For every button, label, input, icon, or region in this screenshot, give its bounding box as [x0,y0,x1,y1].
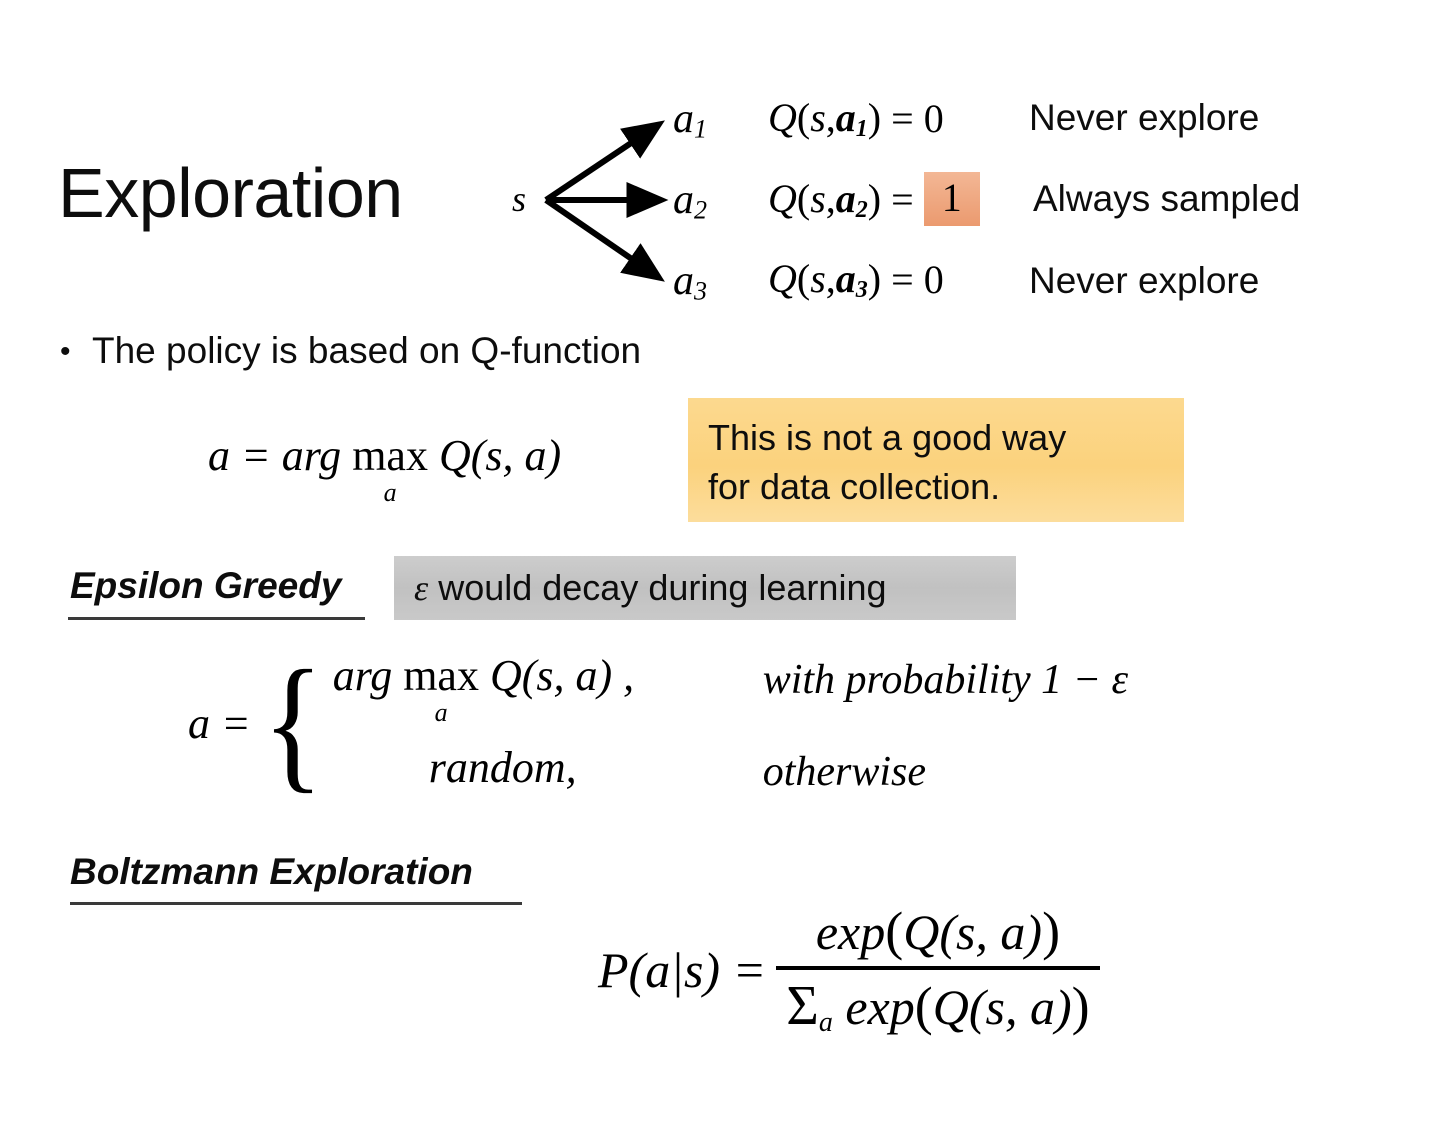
page-title: Exploration [58,158,403,228]
boltzmann-sigma: Σa [786,975,833,1037]
argmax-lhs: a = arg [208,431,341,480]
q-value-row-3: Q(s,a3) = 0 [768,255,944,304]
piecewise-max-label: max [403,654,479,698]
action-label-a2: a2 [673,176,707,226]
callout-gray-text: ε would decay during learning [414,567,886,609]
q-equals-3: = [891,256,914,303]
q-value-3: 0 [924,256,944,303]
argmax-rhs: Q(s, a) [439,431,561,480]
formula-argmax: a = arg max a Q(s, a) [208,430,561,506]
formula-epsilon-greedy: a = { arg maxa Q(s, a) , with probabilit… [188,650,1128,796]
piecewise-max-subscript: a [435,700,448,726]
formula-boltzmann: P(a|s) = exp(Q(s, a)) Σa exp(Q(s, a)) [598,900,1100,1039]
piecewise-lhs: a = [188,698,251,749]
piecewise-cases: arg maxa Q(s, a) , with probability 1 − … [333,650,1128,796]
boltzmann-lhs: P(a|s) = [598,941,766,999]
boltzmann-numerator: exp(Q(s, a)) [806,900,1070,966]
action-tree-arrows [500,95,700,310]
callout-yellow-box: This is not a good way for data collecti… [688,398,1184,522]
piecewise-case-1-expression: arg maxa Q(s, a) , [333,650,763,726]
q-equals-2: = [891,176,914,223]
state-label: s [512,178,526,220]
q-expression-1: Q(s,a1) [768,94,881,143]
heading-boltzmann-exploration: Boltzmann Exploration [70,853,473,890]
q-expression-2: Q(s,a2) [768,175,881,224]
boltzmann-sigma-subscript: a [819,1007,833,1038]
q-note-3: Never explore [1029,260,1259,302]
boltzmann-numerator-fn: exp [816,904,885,960]
boltzmann-denominator-fn: exp [845,979,914,1035]
piecewise-case-1-condition: with probability 1 − ε [763,650,1128,704]
argmax-max-subscript: a [384,480,397,506]
callout-yellow-line1: This is not a good way [708,414,1164,463]
action-label-a1: a1 [673,95,707,145]
boltzmann-fraction: exp(Q(s, a)) Σa exp(Q(s, a)) [776,900,1099,1039]
piecewise-max-operator: maxa [403,654,479,726]
bullet-marker: • [60,335,92,369]
epsilon-symbol: ε [414,568,428,608]
q-value-1: 0 [924,95,944,142]
callout-yellow-line2: for data collection. [708,463,1164,512]
heading-boltzmann-underline [70,902,522,905]
boltzmann-numerator-inner: Q(s, a) [903,904,1042,960]
q-equals-1: = [891,95,914,142]
heading-epsilon-greedy: Epsilon Greedy [70,567,341,604]
q-value-row-1: Q(s,a1) = 0 [768,94,944,143]
argmax-max-label: max [352,434,428,478]
piecewise-case-2: random, otherwise [333,742,1128,796]
argmax-max-operator: max a [352,434,428,506]
q-expression-3: Q(s,a3) [768,255,881,304]
callout-gray-rest: would decay during learning [428,567,886,608]
action-subscript-1: 1 [694,115,707,144]
q-value-row-2: Q(s,a2) = 1 [768,172,980,226]
action-subscript-2: 2 [694,196,707,225]
piecewise-case-2-condition: otherwise [763,742,926,796]
bullet-text: The policy is based on Q-function [92,330,641,371]
bullet-policy: •The policy is based on Q-function [60,330,641,372]
q-note-2: Always sampled [1033,178,1300,220]
piecewise-case-2-expression: random, [333,742,763,793]
piecewise-brace: { [262,665,323,782]
piecewise-case-1-q: Q(s, a) , [490,651,634,700]
piecewise-case-1-arg: arg [333,651,393,700]
action-label-a3: a3 [673,257,707,307]
heading-epsilon-greedy-underline [68,617,365,620]
boltzmann-denominator-inner: Q(s, a) [933,979,1072,1035]
action-subscript-3: 3 [694,277,707,306]
boltzmann-denominator: Σa exp(Q(s, a)) [776,970,1099,1039]
callout-gray-box: ε would decay during learning [394,556,1016,620]
piecewise-case-1: arg maxa Q(s, a) , with probability 1 − … [333,650,1128,726]
q-value-2-highlight: 1 [924,172,980,226]
q-note-1: Never explore [1029,97,1259,139]
